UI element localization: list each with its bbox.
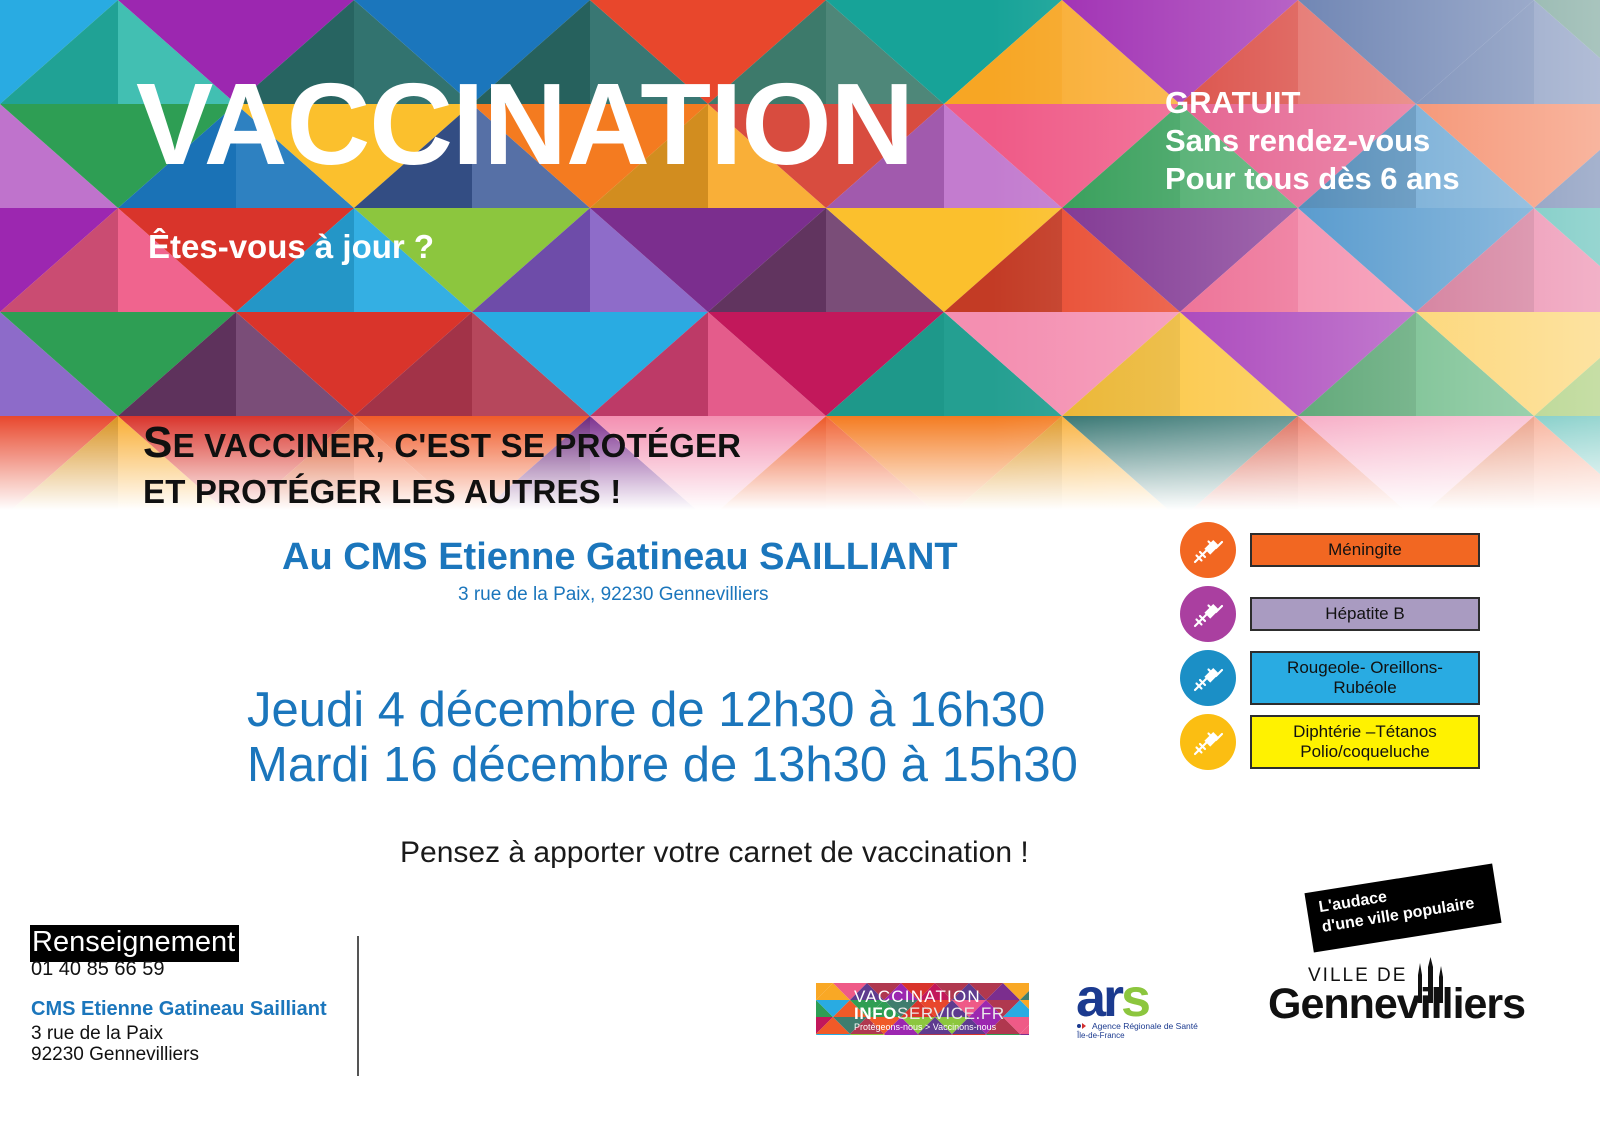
legend-row: Méningite xyxy=(1180,522,1480,578)
legend-icon-circle xyxy=(1180,522,1236,578)
syringe-icon xyxy=(1189,595,1227,633)
ars-region: Île-de-France xyxy=(1077,1031,1125,1040)
footer-cms-name: CMS Etienne Gatineau Sailliant xyxy=(31,998,327,1021)
legend-icon-circle xyxy=(1180,714,1236,770)
gennevilliers-wordmark: Gennevilliers xyxy=(1268,980,1525,1029)
legend-label: Rougeole- Oreillons- Rubéole xyxy=(1250,651,1480,705)
footer-cms-street: 3 rue de la Paix xyxy=(31,1023,163,1045)
slogan-line-1-rest: E VACCINER, C'EST SE PROTÉGER xyxy=(173,427,742,464)
badge-sans-rendez-vous: Sans rendez-vous xyxy=(1165,122,1460,160)
info-phone: 01 40 85 66 59 xyxy=(31,958,164,981)
ars-wordmark: ars xyxy=(1076,971,1148,1025)
syringe-icon xyxy=(1189,659,1227,697)
session-dates: Jeudi 4 décembre de 12h30 à 16h30 Mardi … xyxy=(247,683,1078,794)
ars-logo: ars Agence Régionale de Santé Île-de-Fra… xyxy=(1070,975,1230,1037)
session-date-1: Jeudi 4 décembre de 12h30 à 16h30 xyxy=(247,683,1078,738)
slogan-line-1: SE VACCINER, C'EST SE PROTÉGER xyxy=(143,415,741,471)
slogan-line-2: ET PROTÉGER LES AUTRES ! xyxy=(143,471,741,513)
syringe-icon xyxy=(1189,531,1227,569)
badge-age: Pour tous dès 6 ans xyxy=(1165,160,1460,198)
slogan-dropcap: S xyxy=(143,418,173,467)
vis-logo-line-2: INFOSERVICE.FR xyxy=(854,1004,1005,1024)
session-date-2: Mardi 16 décembre de 13h30 à 15h30 xyxy=(247,738,1078,793)
badge-gratuit: GRATUIT xyxy=(1165,84,1460,122)
legend-label: Méningite xyxy=(1250,533,1480,567)
footer-cms-city: 92230 Gennevilliers xyxy=(31,1044,199,1066)
venue-address: 3 rue de la Paix, 92230 Gennevilliers xyxy=(458,584,769,606)
legend-icon-circle xyxy=(1180,650,1236,706)
ars-wordmark-blue: ar xyxy=(1076,968,1121,1028)
vaccination-poster: VACCINATION Êtes-vous à jour ? GRATUIT S… xyxy=(0,0,1600,1131)
ars-wordmark-green: s xyxy=(1121,968,1148,1028)
info-label: Renseignement xyxy=(30,925,239,962)
vis-logo-tagline: Protégeons-nous > Vaccinons-nous xyxy=(854,1022,996,1032)
slogan: SE VACCINER, C'EST SE PROTÉGER ET PROTÉG… xyxy=(143,415,741,514)
legend-row: Hépatite B xyxy=(1180,586,1480,642)
french-flag-icon xyxy=(1077,1023,1089,1029)
legend-icon-circle xyxy=(1180,586,1236,642)
vaccine-legend: MéningiteHépatite BRougeole- Oreillons- … xyxy=(1180,522,1480,778)
legend-row: Rougeole- Oreillons- Rubéole xyxy=(1180,650,1480,706)
legend-row: Diphtérie –Tétanos Polio/coqueluche xyxy=(1180,714,1480,770)
hero-badges: GRATUIT Sans rendez-vous Pour tous dès 6… xyxy=(1165,84,1460,197)
vis-logo-service: SERVICE.FR xyxy=(897,1004,1005,1023)
venue-name: Au CMS Etienne Gatineau SAILLIANT xyxy=(282,536,958,579)
footer-divider xyxy=(357,936,359,1076)
legend-label: Diphtérie –Tétanos Polio/coqueluche xyxy=(1250,715,1480,769)
vaccination-info-service-logo: VACCINATION INFOSERVICE.FR Protégeons-no… xyxy=(816,983,1029,1035)
legend-label: Hépatite B xyxy=(1250,597,1480,631)
page-title: VACCINATION xyxy=(136,66,913,182)
ars-subtitle: Agence Régionale de Santé xyxy=(1092,1021,1198,1031)
ville-de-gennevilliers-logo: VILLE DE Gennevilliers xyxy=(1268,965,1478,1035)
audace-tagline: L'audace d'une ville populaire xyxy=(1304,864,1501,953)
vis-logo-info: INFO xyxy=(854,1004,897,1023)
syringe-icon xyxy=(1189,723,1227,761)
hero-subtitle: Êtes-vous à jour ? xyxy=(148,228,434,266)
carnet-reminder: Pensez à apporter votre carnet de vaccin… xyxy=(400,836,1029,870)
